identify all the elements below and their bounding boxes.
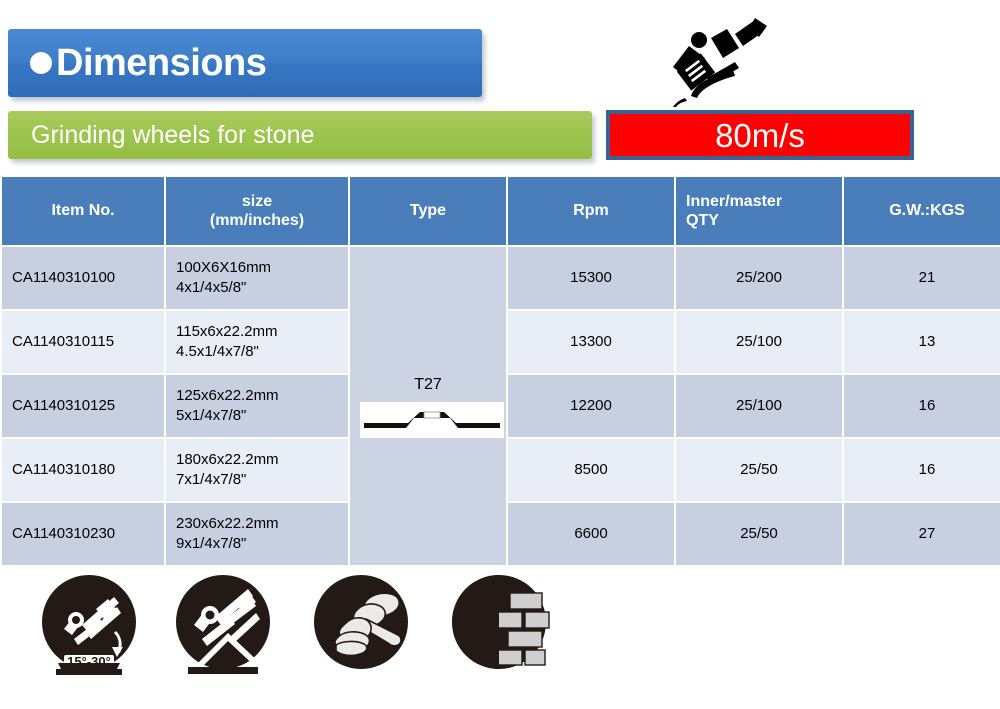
column-header-size-line2: (mm/inches) [176, 211, 338, 230]
cell-item-no: CA1140310180 [2, 439, 164, 501]
cell-size-inch: 4.5x1/4x7/8" [176, 342, 338, 362]
cell-size: 230x6x22.2mm 9x1/4x7/8" [166, 503, 348, 565]
column-header-gw: G.W.:KGS [844, 177, 1000, 245]
table-body: CA1140310100 100X6X16mm 4x1/4x5/8" T27 1… [2, 247, 1000, 565]
specifications-table: Item No. size (mm/inches) Type Rpm Inner… [0, 175, 1000, 567]
subtitle-text: Grinding wheels for stone [31, 123, 314, 148]
cell-item-no: CA1140310100 [2, 247, 164, 309]
cell-rpm: 15300 [508, 247, 674, 309]
cell-size-mm: 180x6x22.2mm [176, 450, 338, 470]
title-bullet-icon [30, 52, 52, 74]
cell-qty: 25/50 [676, 503, 842, 565]
page-title: Dimensions [56, 44, 266, 82]
column-header-size-line1: size [176, 192, 338, 211]
cell-qty: 25/100 [676, 311, 842, 373]
speed-badge-text: 80m/s [715, 119, 805, 152]
column-header-item-no: Item No. [2, 177, 164, 245]
cell-gw: 16 [844, 439, 1000, 501]
grinding-angle-icon: 15°-30° [38, 573, 140, 675]
cell-size-mm: 230x6x22.2mm [176, 514, 338, 534]
pictogram-row: 15°-30° [38, 573, 598, 678]
cell-qty: 25/50 [676, 439, 842, 501]
cell-size-mm: 125x6x22.2mm [176, 386, 338, 406]
column-header-type: Type [350, 177, 506, 245]
cell-item-no: CA1140310115 [2, 311, 164, 373]
cell-rpm: 6600 [508, 503, 674, 565]
cell-size: 115x6x22.2mm 4.5x1/4x7/8" [166, 311, 348, 373]
subtitle-bar: Grinding wheels for stone [8, 111, 592, 159]
cell-size: 180x6x22.2mm 7x1/4x7/8" [166, 439, 348, 501]
cell-qty: 25/200 [676, 247, 842, 309]
cell-gw: 21 [844, 247, 1000, 309]
column-header-qty-line2: QTY [686, 211, 832, 230]
cell-qty: 25/100 [676, 375, 842, 437]
cell-size-inch: 5x1/4x7/8" [176, 406, 338, 426]
depressed-center-wheel-diagram [360, 402, 504, 438]
table-header-row: Item No. size (mm/inches) Type Rpm Inner… [2, 177, 1000, 245]
angle-grinder-tool-icon [310, 573, 412, 675]
column-header-rpm: Rpm [508, 177, 674, 245]
column-header-qty: Inner/master QTY [676, 177, 842, 245]
cell-rpm: 12200 [508, 375, 674, 437]
cell-item-no: CA1140310125 [2, 375, 164, 437]
cell-size-mm: 100X6X16mm [176, 258, 338, 278]
cell-gw: 27 [844, 503, 1000, 565]
speed-badge: 80m/s [606, 110, 914, 160]
cell-size: 125x6x22.2mm 5x1/4x7/8" [166, 375, 348, 437]
table-row: CA1140310100 100X6X16mm 4x1/4x5/8" T27 1… [2, 247, 1000, 309]
cell-size: 100X6X16mm 4x1/4x5/8" [166, 247, 348, 309]
cell-size-inch: 4x1/4x5/8" [176, 278, 338, 298]
column-header-qty-line1: Inner/master [686, 192, 832, 211]
type-label: T27 [360, 374, 496, 396]
grinding-edge-icon [172, 573, 274, 675]
cell-size-mm: 115x6x22.2mm [176, 322, 338, 342]
cell-item-no: CA1140310230 [2, 503, 164, 565]
cell-type-merged: T27 [350, 247, 506, 565]
column-header-size: size (mm/inches) [166, 177, 348, 245]
cell-rpm: 8500 [508, 439, 674, 501]
cell-rpm: 13300 [508, 311, 674, 373]
cell-size-inch: 7x1/4x7/8" [176, 470, 338, 490]
cell-gw: 13 [844, 311, 1000, 373]
cell-size-inch: 9x1/4x7/8" [176, 534, 338, 554]
cell-gw: 16 [844, 375, 1000, 437]
angle-grinder-icon [655, 12, 785, 107]
masonry-brick-icon [448, 573, 550, 675]
page-title-bar: Dimensions [8, 29, 482, 97]
